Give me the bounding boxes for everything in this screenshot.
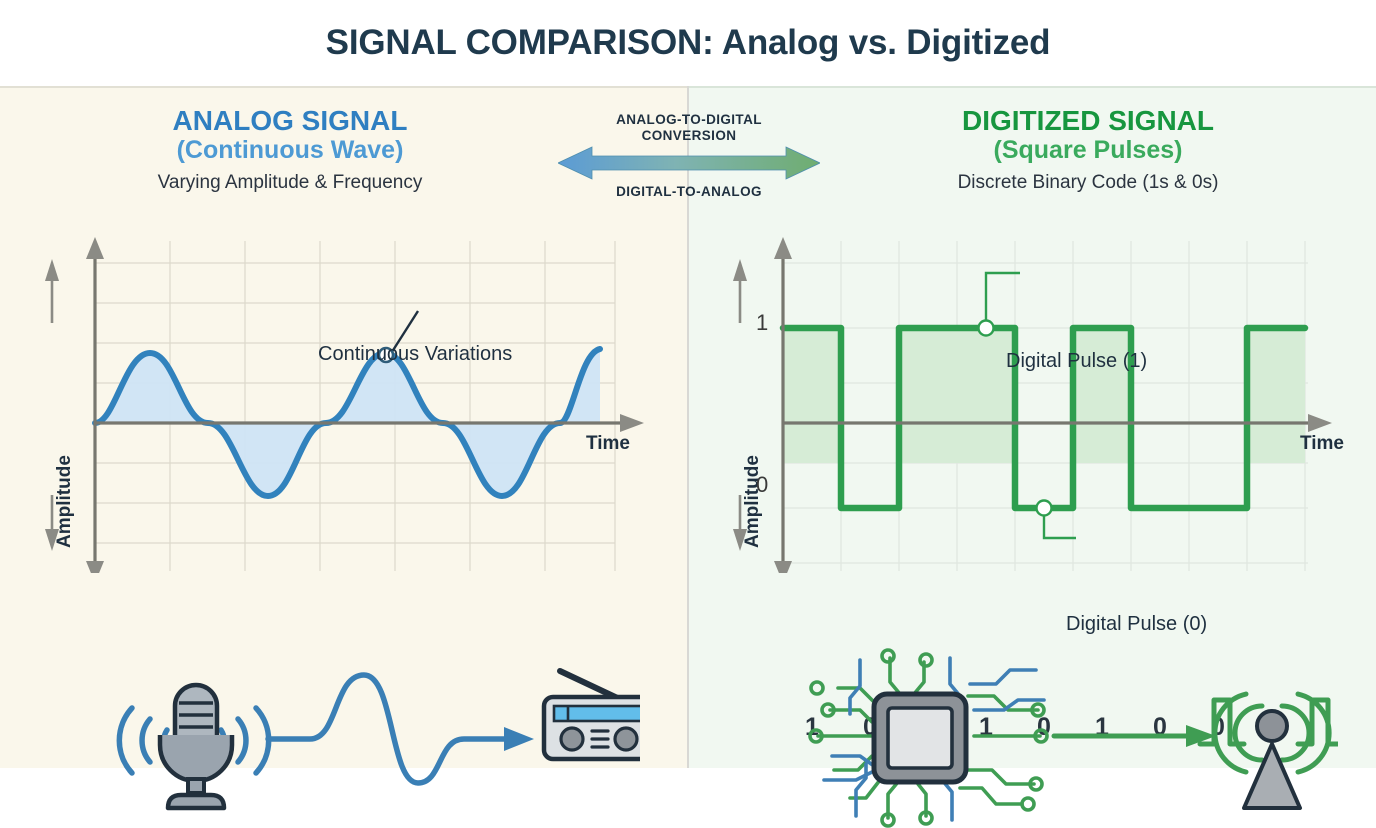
analog-signal-chart [20, 233, 670, 573]
digital-panel-heading: DIGITIZED SIGNAL (Square Pulses) Discret… [808, 106, 1368, 194]
digital-y-axis-label: Amplitude [742, 455, 764, 548]
digital-to-analog-label: DIGITAL-TO-ANALOG [553, 184, 825, 199]
analog-callout-label: Continuous Variations [318, 343, 512, 366]
diagram-canvas: SIGNAL COMPARISON: Analog vs. Digitized … [0, 0, 1376, 768]
conversion-block: ANALOG-TO-DIGITAL CONVERSION DIGITAL-TO-… [553, 112, 825, 212]
microphone-icon [160, 685, 232, 808]
analog-subtitle: (Continuous Wave) [10, 136, 570, 166]
analog-title: ANALOG SIGNAL [10, 106, 570, 136]
a2d-line1: ANALOG-TO-DIGITAL [616, 112, 762, 127]
digital-subtitle: (Square Pulses) [808, 136, 1368, 166]
page-title: SIGNAL COMPARISON: Analog vs. Digitized [326, 23, 1051, 63]
digital-description: Discrete Binary Code (1s & 0s) [808, 172, 1368, 194]
conversion-double-arrow-icon [558, 146, 820, 180]
analog-to-digital-label: ANALOG-TO-DIGITAL CONVERSION [553, 112, 825, 144]
digital-flow-row [738, 648, 1338, 828]
analog-x-axis-label: Time [586, 433, 630, 455]
digital-title: DIGITIZED SIGNAL [808, 106, 1368, 136]
radio-icon [544, 671, 640, 759]
digital-ytick-0: 0 [756, 472, 768, 498]
digital-gridlines [783, 241, 1308, 571]
digital-arrow-icon [1054, 725, 1216, 747]
digital-callout-low-label: Digital Pulse (0) [1066, 613, 1207, 636]
digital-x-axis-label: Time [1300, 433, 1344, 455]
digital-callout-high-label: Digital Pulse (1) [1006, 350, 1147, 373]
analog-description: Varying Amplitude & Frequency [10, 172, 570, 194]
analog-y-axis-label: Amplitude [54, 455, 76, 548]
analog-flow-row [60, 653, 640, 828]
header-bar: SIGNAL COMPARISON: Analog vs. Digitized [0, 0, 1376, 86]
digital-signal-chart [708, 233, 1358, 573]
digital-ytick-1: 1 [756, 310, 768, 336]
microchip-icon [874, 694, 966, 782]
digital-pulse-fill [783, 328, 1305, 463]
analog-panel-heading: ANALOG SIGNAL (Continuous Wave) Varying … [10, 106, 570, 194]
analog-wave-arrow-icon [268, 675, 534, 783]
a2d-line2: CONVERSION [642, 128, 737, 143]
analog-y-axis [86, 237, 104, 573]
